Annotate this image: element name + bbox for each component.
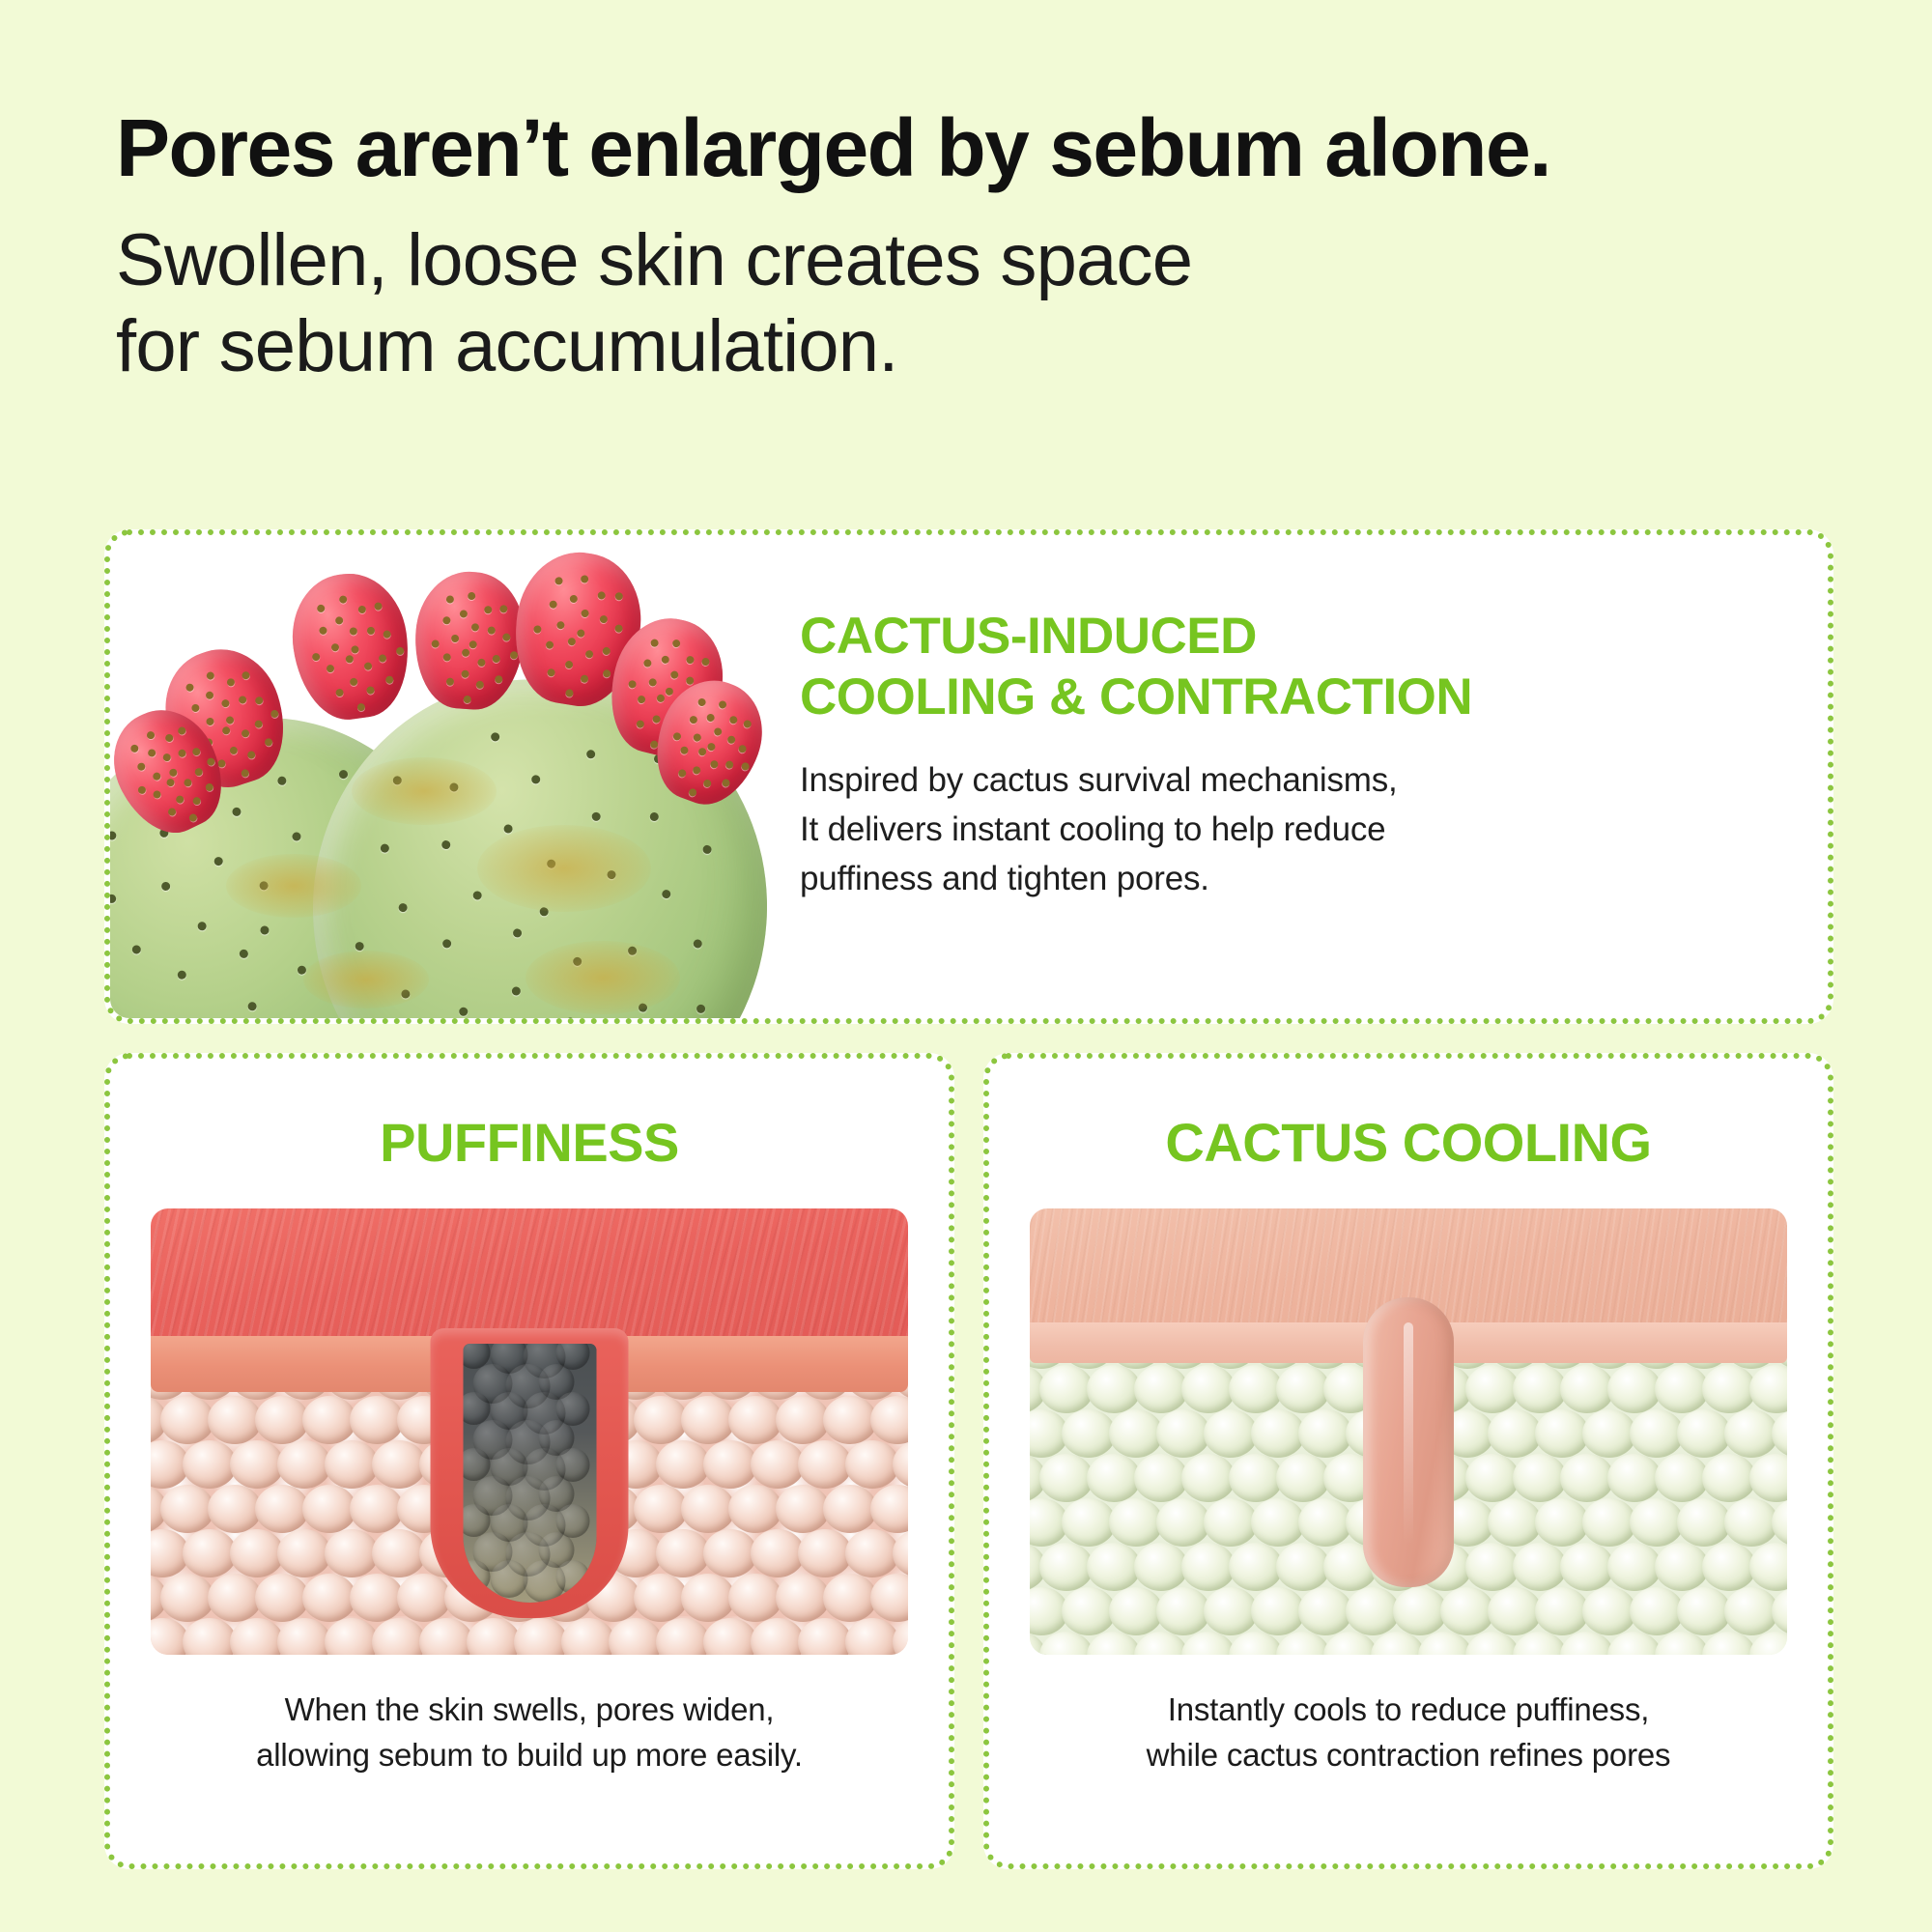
fruit-spine [677, 768, 687, 778]
cell-bubble [1204, 1587, 1258, 1635]
cactus-areole [110, 831, 116, 840]
fruit-spine [327, 664, 335, 672]
fruit-spine [177, 748, 187, 758]
fruit-spine [255, 696, 265, 705]
cell-bubble [302, 1396, 356, 1444]
cactus-areole [592, 812, 602, 822]
cell-bubble [1276, 1365, 1330, 1413]
cell-bubble [1535, 1498, 1589, 1547]
fruit-spine [637, 695, 646, 704]
pore-highlight [1404, 1322, 1413, 1545]
fruit-spine [567, 637, 576, 645]
cactus-areole [132, 945, 142, 954]
cell-bubble [656, 1529, 710, 1577]
cooling-caption: Instantly cools to reduce puffiness, whi… [989, 1688, 1828, 1778]
cell-bubble [634, 1485, 688, 1533]
cell-bubble [893, 1440, 908, 1489]
cell-bubble [1630, 1498, 1684, 1547]
fruit-spine [225, 716, 235, 725]
cell-bubble [183, 1440, 237, 1489]
cell-bubble [1298, 1409, 1352, 1458]
cell-bubble [1702, 1454, 1756, 1502]
cell-bubble [845, 1618, 899, 1655]
cell-bubble [1535, 1587, 1589, 1635]
cactus-areole [531, 775, 541, 784]
cactus-areole [572, 956, 582, 966]
fruit-spine [738, 744, 748, 753]
fruit-spine [702, 779, 712, 788]
cell-bubble [350, 1396, 404, 1444]
cactus-areole [702, 845, 712, 855]
cactus-areole [649, 811, 659, 821]
cell-bubble [1229, 1365, 1283, 1413]
cell-bubble [1204, 1498, 1258, 1547]
cactus-areole [442, 939, 452, 949]
cell-bubble [183, 1618, 237, 1655]
cell-bubble [277, 1440, 331, 1489]
fruit-spine [475, 681, 484, 690]
fruit-spine [374, 602, 383, 611]
cell-bubble [1582, 1409, 1636, 1458]
feature-body-line-3: puffiness and tighten pores. [800, 855, 1770, 904]
cell-bubble [160, 1396, 214, 1444]
cell-bubble [1109, 1587, 1163, 1635]
cactus-areole [239, 949, 248, 958]
refined-pore [1363, 1297, 1454, 1587]
cell-bubble [845, 1529, 899, 1577]
cell-bubble [230, 1529, 284, 1577]
cooling-title: CACTUS COOLING [989, 1111, 1828, 1174]
cell-bubble [561, 1618, 615, 1655]
cell-bubble [1724, 1587, 1778, 1635]
cell-bubble [798, 1618, 852, 1655]
subheadline-line-2: for sebum accumulation. [116, 303, 1835, 390]
fruit-spine [686, 655, 696, 665]
fruit-spine [718, 699, 727, 709]
cactus-areole [110, 894, 116, 903]
fruit-spine [205, 782, 215, 793]
fruit-spine [446, 677, 455, 686]
fruit-spine [580, 674, 588, 683]
fruit-spine [548, 668, 556, 676]
fruit-spine [648, 678, 658, 688]
fruit-spine [442, 616, 451, 625]
cell-bubble [1724, 1409, 1778, 1458]
cell-bubble [728, 1485, 782, 1533]
fruit-spine [162, 753, 173, 763]
cell-bubble [823, 1396, 877, 1444]
fruit-spine [493, 654, 501, 663]
cell-bubble [1039, 1365, 1094, 1413]
fruit-spine [238, 696, 247, 705]
cactus-areole [392, 776, 402, 785]
fruit-spine [565, 661, 574, 669]
cell-bubble [230, 1618, 284, 1655]
cell-bubble [776, 1396, 830, 1444]
cell-bubble [728, 1574, 782, 1622]
puffiness-caption: When the skin swells, pores widen, allow… [110, 1688, 949, 1778]
cactus-image [110, 535, 767, 1018]
cell-bubble [1087, 1365, 1141, 1413]
cell-bubble [1156, 1587, 1210, 1635]
cell-bubble [372, 1440, 426, 1489]
cell-bubble [302, 1574, 356, 1622]
fruit-spine [185, 683, 195, 693]
sebum-plug [463, 1344, 596, 1603]
cell-bubble [823, 1485, 877, 1533]
cell-bubble [1749, 1543, 1787, 1591]
fruit-spine [363, 662, 372, 670]
fruit-spine [499, 605, 508, 613]
fruit-spine [151, 771, 161, 781]
fruit-spine [688, 788, 697, 798]
fruit-spine [636, 720, 645, 729]
cactus-areole [177, 970, 186, 980]
cell-bubble [1488, 1587, 1542, 1635]
fruit-spine [339, 595, 348, 604]
sebum-nodule [555, 1560, 589, 1594]
cell-bubble [160, 1485, 214, 1533]
cactus-areole [247, 1001, 257, 1010]
cell-bubble [870, 1396, 908, 1444]
fruit-spine [206, 717, 215, 726]
fruit-spine [706, 742, 716, 752]
cell-bubble [1298, 1587, 1352, 1635]
fruit-spine [706, 713, 716, 723]
fruit-spine [264, 737, 273, 747]
fruit-spine [384, 630, 392, 639]
feature-title-line-2: COOLING & CONTRACTION [800, 668, 1770, 728]
cell-bubble [514, 1618, 568, 1655]
puffiness-caption-line-1: When the skin swells, pores widen, [133, 1688, 925, 1733]
cell-bubble [703, 1440, 757, 1489]
fruit-spine [468, 592, 476, 601]
fruit-spine [241, 768, 250, 778]
cactus-areole [539, 907, 549, 917]
fruit-spine [680, 746, 690, 755]
fruit-spine [191, 796, 202, 807]
cell-bubble [277, 1618, 331, 1655]
fruit-spine [460, 611, 469, 619]
cell-bubble [1772, 1409, 1787, 1458]
fruit-spine [166, 777, 177, 787]
cell-bubble [751, 1529, 805, 1577]
cactus-areole [441, 840, 451, 850]
cell-bubble [208, 1396, 262, 1444]
fruit-spine [469, 640, 477, 649]
cell-bubble [1393, 1587, 1447, 1635]
feature-body-line-2: It delivers instant cooling to help redu… [800, 806, 1770, 855]
cell-bubble [277, 1529, 331, 1577]
fruit-spine [319, 626, 327, 635]
cell-bubble [1109, 1409, 1163, 1458]
feature-title-line-1: CACTUS-INDUCED [800, 607, 1770, 668]
cell-bubble [372, 1618, 426, 1655]
cell-bubble [1134, 1365, 1188, 1413]
feature-body-line-1: Inspired by cactus survival mechanisms, [800, 756, 1770, 806]
fruit-spine [168, 767, 179, 778]
fruit-spine [175, 794, 185, 805]
fruit-spine [128, 743, 139, 753]
fruit-spine [317, 604, 326, 612]
cell-bubble [681, 1396, 735, 1444]
fruit-spine [484, 605, 493, 613]
cactus-areole [232, 808, 241, 817]
fruit-spine [445, 595, 454, 604]
cell-bubble [1109, 1498, 1163, 1547]
fruit-spine [689, 715, 698, 724]
fruit-spine [221, 725, 231, 735]
cactus-areole [398, 903, 408, 913]
fruit-spine [533, 624, 542, 633]
cell-bubble [703, 1618, 757, 1655]
fruit-spine [692, 732, 701, 742]
cell-bubble [1655, 1543, 1709, 1591]
cell-bubble [350, 1485, 404, 1533]
cell-bubble [325, 1440, 379, 1489]
cactus-areole [607, 870, 616, 880]
fruit-spine [477, 659, 486, 668]
cell-bubble [798, 1440, 852, 1489]
cell-bubble [1229, 1543, 1283, 1591]
fruit-spine [627, 680, 637, 690]
cell-bubble [1276, 1543, 1330, 1591]
cell-bubble [1039, 1454, 1094, 1502]
fruit-spine [713, 727, 723, 737]
cell-bubble [372, 1529, 426, 1577]
cell-bubble [1772, 1498, 1787, 1547]
fruit-spine [462, 648, 470, 657]
cell-bubble [1677, 1587, 1731, 1635]
feature-title: CACTUS-INDUCED COOLING & CONTRACTION [800, 607, 1770, 727]
cell-bubble [1465, 1365, 1520, 1413]
fruit-spine [334, 616, 343, 625]
cell-bubble [681, 1485, 735, 1533]
cell-bubble [1560, 1543, 1614, 1591]
cactus-areole [338, 770, 348, 780]
cell-bubble [302, 1485, 356, 1533]
cell-bubble [728, 1396, 782, 1444]
fruit-spine [229, 746, 239, 755]
fruit-spine [188, 812, 199, 823]
cactus-areole [450, 782, 460, 792]
fruit-spine [356, 703, 365, 712]
cell-bubble [255, 1485, 309, 1533]
cell-bubble [183, 1529, 237, 1577]
fruit-spine [495, 675, 503, 684]
fruit-spine [649, 639, 659, 648]
fruit-spine [577, 629, 585, 638]
cactus-areole [512, 928, 522, 938]
cell-bubble [230, 1440, 284, 1489]
fruit-spine [311, 653, 320, 662]
cell-bubble [1560, 1454, 1614, 1502]
fruit-spine [697, 747, 707, 756]
cactus-areole [355, 942, 364, 952]
fruit-spine [193, 767, 204, 778]
cell-bubble [1276, 1454, 1330, 1502]
cell-bubble [1724, 1498, 1778, 1547]
cactus-areole [503, 824, 513, 834]
fruit-spine [656, 694, 666, 703]
cell-bubble [1582, 1587, 1636, 1635]
fruit-spine [597, 591, 606, 600]
fruit-spine [206, 670, 215, 680]
fruit-spine [191, 747, 202, 757]
fruit-spine [721, 779, 730, 788]
fruit-spine [349, 677, 357, 686]
fruit-spine [692, 765, 701, 775]
cell-bubble [1702, 1543, 1756, 1591]
cactus-fruit [284, 567, 417, 726]
cell-bubble [1181, 1543, 1236, 1591]
puffiness-figure [151, 1208, 908, 1655]
fruit-spine [556, 621, 565, 630]
cactus-areole [381, 843, 390, 853]
cell-bubble [776, 1574, 830, 1622]
fruit-spine [147, 748, 157, 758]
fruit-spine [145, 730, 156, 741]
fruit-spine [565, 689, 574, 697]
cell-bubble [1535, 1409, 1589, 1458]
fruit-spine [206, 756, 216, 767]
cactus-areole [298, 965, 307, 975]
cell-bubble [397, 1574, 451, 1622]
cell-bubble [1134, 1543, 1188, 1591]
cell-bubble [870, 1485, 908, 1533]
fruit-spine [603, 669, 611, 678]
cactus-areole [628, 947, 638, 956]
cell-bubble [634, 1574, 688, 1622]
fruit-spine [136, 761, 147, 772]
fruit-spine [724, 760, 734, 770]
puffiness-caption-line-2: allowing sebum to build up more easily. [133, 1733, 925, 1778]
fruit-spine [461, 669, 469, 678]
cactus-areole [586, 750, 596, 759]
fruit-spine [331, 643, 340, 652]
cooling-figure [1030, 1208, 1787, 1655]
cell-bubble [1251, 1587, 1305, 1635]
fruit-spine [464, 696, 472, 704]
fruit-spine [378, 654, 386, 663]
fruit-spine [670, 669, 680, 679]
fruit-spine [672, 731, 682, 741]
cell-bubble [1749, 1365, 1787, 1413]
fruit-spine [431, 640, 440, 649]
fruit-spine [226, 677, 236, 687]
fruit-spine [190, 703, 200, 713]
cell-bubble [1465, 1454, 1520, 1502]
fruit-spine [599, 615, 608, 624]
fruit-spine [442, 653, 451, 662]
fruit-spine [700, 657, 710, 667]
fruit-spine [741, 761, 751, 771]
cell-bubble [870, 1574, 908, 1622]
cell-bubble [634, 1396, 688, 1444]
cactus-areole [401, 989, 411, 999]
cactus-areole [259, 881, 269, 891]
fruit-spine [584, 650, 593, 659]
fruit-spine [366, 686, 375, 695]
cell-bubble [1630, 1587, 1684, 1635]
cell-bubble [255, 1574, 309, 1622]
cell-bubble [1087, 1454, 1141, 1502]
cell-bubble [1607, 1454, 1662, 1502]
fruit-spine [164, 733, 175, 744]
cell-bubble [798, 1529, 852, 1577]
cell-bubble [1440, 1587, 1494, 1635]
cell-bubble [255, 1396, 309, 1444]
cell-bubble [1655, 1365, 1709, 1413]
fruit-spine [384, 675, 393, 684]
fruit-spine [661, 655, 670, 665]
sebum-nodule [463, 1560, 490, 1593]
cactus-areole [160, 881, 170, 891]
fruit-spine [345, 655, 354, 664]
cell-bubble [1677, 1498, 1731, 1547]
cell-bubble [1655, 1454, 1709, 1502]
fruit-spine [167, 807, 178, 817]
cell-bubble [1134, 1454, 1188, 1502]
fruit-spine [395, 647, 404, 656]
cooling-card: CACTUS COOLING Instantly cools to reduce… [983, 1053, 1833, 1869]
cactus-areole [292, 832, 301, 841]
fruit-spine [710, 759, 720, 769]
cell-bubble [1772, 1587, 1787, 1635]
fruit-spine [614, 624, 623, 633]
cactus-areole [260, 925, 270, 935]
fruit-spine [137, 784, 148, 795]
fruit-spine [696, 696, 706, 706]
heading-block: Pores aren’t enlarged by sebum alone. Sw… [116, 104, 1835, 390]
cell-bubble [1582, 1498, 1636, 1547]
cactus-areole [696, 1004, 706, 1013]
cell-bubble [1229, 1454, 1283, 1502]
cactus-illustration [110, 535, 767, 1018]
cell-bubble [467, 1618, 521, 1655]
cell-bubble [1702, 1365, 1756, 1413]
fruit-spine [580, 575, 588, 583]
cell-bubble [1607, 1365, 1662, 1413]
fruit-spine [488, 627, 497, 636]
fruit-spine [451, 635, 460, 643]
cell-bubble [1346, 1587, 1400, 1635]
cactus-areole [547, 860, 556, 869]
cell-bubble [1062, 1498, 1116, 1547]
cell-bubble [893, 1529, 908, 1577]
fruit-spine [366, 627, 375, 636]
fruit-spine [652, 715, 662, 724]
cell-bubble [1513, 1543, 1567, 1591]
cell-bubble [751, 1440, 805, 1489]
cell-bubble [1156, 1409, 1210, 1458]
cell-bubble [208, 1485, 262, 1533]
page-headline: Pores aren’t enlarged by sebum alone. [116, 104, 1835, 192]
feature-card: CACTUS-INDUCED COOLING & CONTRACTION Ins… [104, 529, 1833, 1024]
cell-bubble [1062, 1587, 1116, 1635]
fruit-spine [184, 778, 194, 788]
cell-bubble [656, 1618, 710, 1655]
cell-bubble [1607, 1543, 1662, 1591]
cell-bubble [1251, 1498, 1305, 1547]
cell-bubble [1062, 1409, 1116, 1458]
cell-bubble [1087, 1543, 1141, 1591]
fruit-spine [335, 689, 344, 697]
infographic-page: Pores aren’t enlarged by sebum alone. Sw… [0, 0, 1932, 1932]
cactus-areole [694, 939, 703, 949]
cactus-areole [197, 922, 207, 931]
cell-bubble [656, 1440, 710, 1489]
